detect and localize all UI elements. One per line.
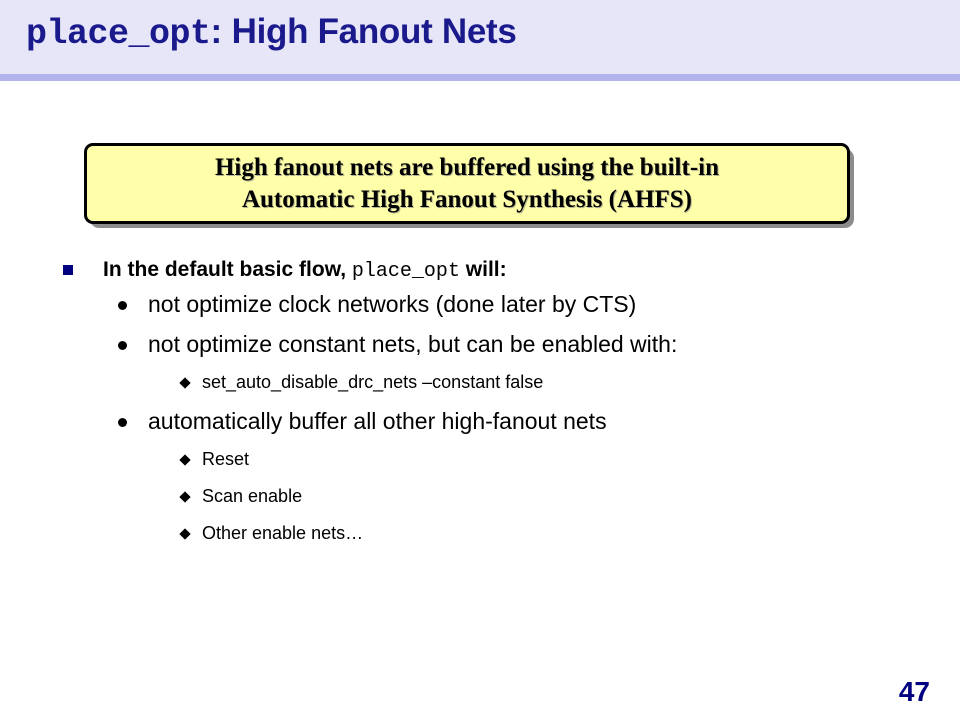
list-item-label: not optimize constant nets, but can be e… xyxy=(148,330,677,359)
list-item-label: In the default basic flow, place_opt wil… xyxy=(103,256,507,285)
list-item-label: Reset xyxy=(202,447,249,471)
bullet-list: In the default basic flow, place_opt wil… xyxy=(0,256,960,558)
list-item: Reset xyxy=(0,447,960,484)
list-item-label: Scan enable xyxy=(202,484,302,508)
round-bullet-icon xyxy=(118,341,127,350)
list-item-text-before: In the default basic flow, xyxy=(103,258,352,281)
diamond-bullet-icon xyxy=(179,377,190,388)
page-title-command: place_opt xyxy=(26,14,211,54)
list-item-text-after: will: xyxy=(460,258,507,281)
list-item: Scan enable xyxy=(0,484,960,521)
square-bullet-icon xyxy=(63,265,73,275)
list-item: set_auto_disable_drc_nets –constant fals… xyxy=(0,370,960,407)
callout-line-2: Automatic High Fanout Synthesis (AHFS) xyxy=(242,184,692,216)
diamond-bullet-icon xyxy=(179,528,190,539)
header-divider xyxy=(0,74,960,81)
list-item: Other enable nets… xyxy=(0,521,960,558)
list-item-label: Other enable nets… xyxy=(202,521,363,545)
diamond-bullet-icon xyxy=(179,491,190,502)
page-title: place_opt: High Fanout Nets xyxy=(26,14,517,52)
round-bullet-icon xyxy=(118,418,127,427)
callout-box: High fanout nets are buffered using the … xyxy=(84,143,850,224)
page-title-colon: : xyxy=(211,12,223,51)
callout-line-1: High fanout nets are buffered using the … xyxy=(215,152,719,184)
diamond-bullet-icon xyxy=(179,454,190,465)
page-number: 47 xyxy=(899,676,930,708)
list-item: In the default basic flow, place_opt wil… xyxy=(0,256,960,290)
list-item-label: set_auto_disable_drc_nets –constant fals… xyxy=(202,370,543,394)
list-item-command: place_opt xyxy=(352,260,460,283)
list-item: automatically buffer all other high-fano… xyxy=(0,407,960,447)
list-item: not optimize constant nets, but can be e… xyxy=(0,330,960,370)
list-item-label: automatically buffer all other high-fano… xyxy=(148,407,607,436)
list-item-label: not optimize clock networks (done later … xyxy=(148,290,636,319)
page-title-subject: High Fanout Nets xyxy=(222,12,516,51)
round-bullet-icon xyxy=(118,301,127,310)
list-item: not optimize clock networks (done later … xyxy=(0,290,960,330)
